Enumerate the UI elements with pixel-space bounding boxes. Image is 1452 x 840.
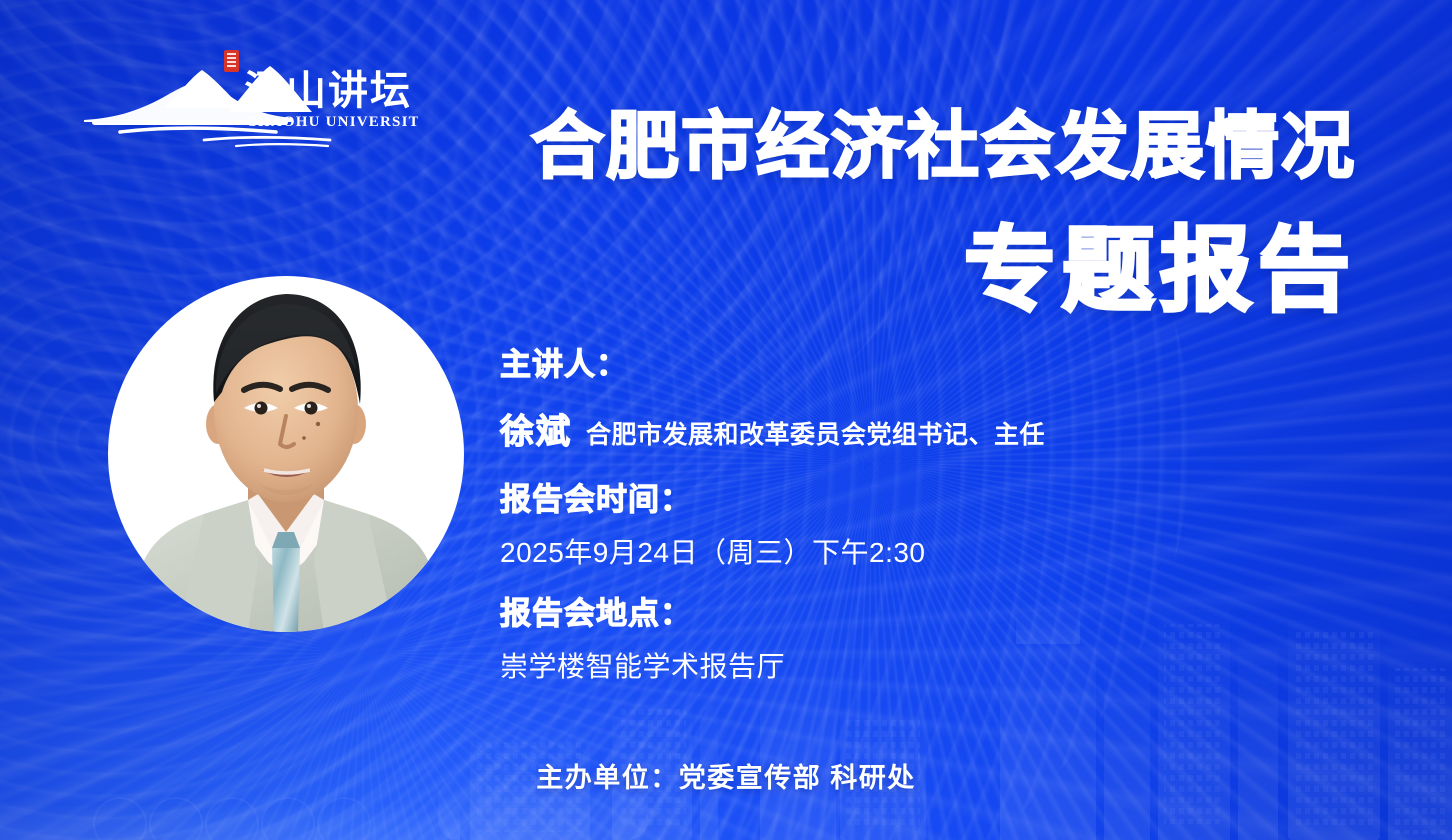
title-line-1: 合肥市经济社会发展情况 xyxy=(531,110,1356,183)
time-value: 2025年9月24日（周三）下午2:30 xyxy=(500,531,1200,571)
place-label: 报告会地点： xyxy=(500,597,1200,631)
speaker-label: 主讲人： xyxy=(500,348,1200,382)
speaker-row: 徐斌 合肥市发展和改革委员会党组书记、主任 xyxy=(500,404,1200,453)
logo-chinese-text: 汤山讲坛 xyxy=(244,68,412,113)
speaker-name: 徐斌 xyxy=(500,404,572,453)
red-seal-icon xyxy=(224,50,239,72)
organizer-footer: 主办单位：党委宣传部 科研处 xyxy=(0,756,1452,795)
time-label: 报告会时间： xyxy=(500,483,1200,517)
event-info-block: 主讲人： 徐斌 合肥市发展和改革委员会党组书记、主任 报告会时间： 2025年9… xyxy=(500,348,1200,685)
speaker-title: 合肥市发展和改革委员会党组书记、主任 xyxy=(586,415,1045,451)
title-line-2: 专题报告 xyxy=(531,225,1356,317)
logo-english-text: CHAOHU UNIVERSITY xyxy=(246,114,418,130)
poster-title: 合肥市经济社会发展情况 专题报告 xyxy=(531,110,1356,317)
place-value: 崇学楼智能学术报告厅 xyxy=(500,645,1200,685)
chaohu-university-logo: 汤山讲坛 CHAOHU UNIVERSITY xyxy=(78,48,418,148)
water-lines-icon xyxy=(120,128,330,146)
poster-root: 汤山讲坛 CHAOHU UNIVERSITY xyxy=(0,0,1452,840)
speaker-portrait xyxy=(108,276,464,632)
